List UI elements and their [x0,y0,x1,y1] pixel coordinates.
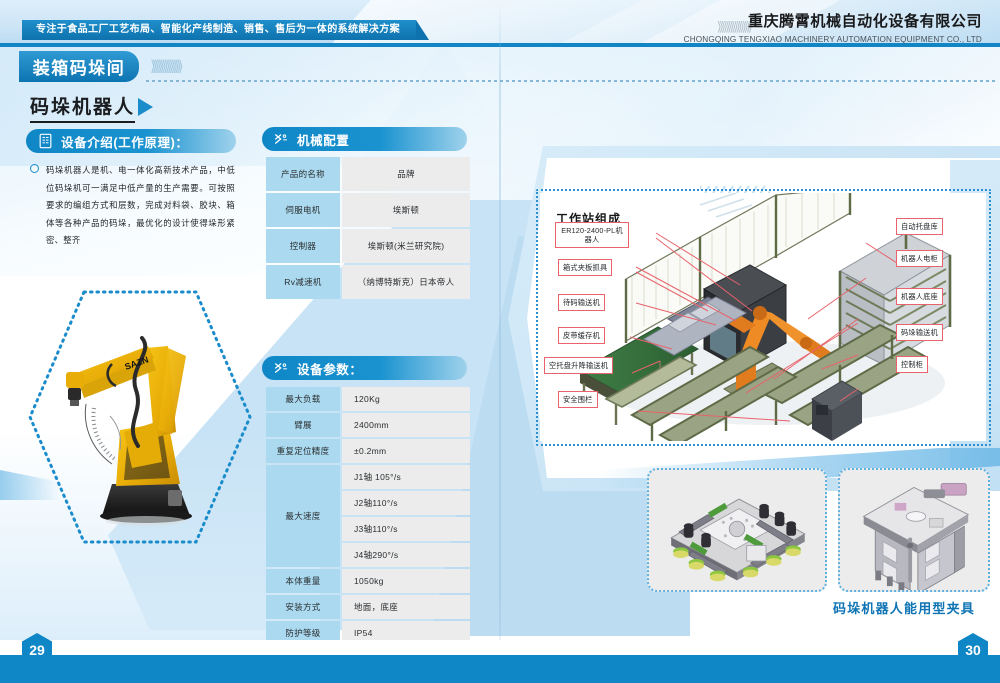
banner-chevrons: ⟩ ⟩ ⟩ ⟩ ⟩ ⟩ ⟩ ⟩ ⟩ ⟩ ⟩ ⟩ ⟩ ⟩ ⟩ ⟩ [150,57,180,75]
table-row: 伺服电机 埃斯顿 [266,193,470,227]
table-row: 重复定位精度 ±0.2mm [266,439,470,463]
param-value: 地面，底座 [342,595,470,619]
config-value: （纳博特斯克）日本帝人 [342,265,470,299]
config-key: Rv减速机 [266,265,340,299]
param-key: 最大速度 [266,465,340,567]
config-key: 控制器 [266,229,340,263]
intro-pill-label: 设备介绍(工作原理)： [61,132,188,151]
intro-paragraph: 码垛机器人是机、电一体化高新技术产品，中低位码垛机可一满足中低产量的生产需要。可… [46,162,235,250]
config-header-pill: 机械配置 [262,127,467,151]
param-value: J4轴290°/s [342,543,470,567]
param-key: 安装方式 [266,595,340,619]
palletizing-robot-photo: SAZN [50,312,230,527]
workstation-label-palletizing-conveyor: 码垛输送机 [896,324,943,341]
workstation-label-waiting-conveyor: 待码输送机 [558,294,605,311]
params-pill-label: 设备参数： [297,359,363,378]
workstation-label-robot-base: 机器人底座 [896,288,943,305]
section-banner: 装箱码垛间 [19,51,139,82]
company-identity: 重庆腾霄机械自动化设备有限公司 CHONGQING TENGXIAO MACHI… [684,12,982,44]
vacuum-suction-gripper [649,470,825,590]
company-name-en: CHONGQING TENGXIAO MACHINERY AUTOMATION … [684,35,982,44]
page-title: 码垛机器人 [30,92,135,123]
table-row: 最大速度 J1轴 105°/s [266,465,470,489]
box-clamp-gripper [840,470,988,590]
param-key: 重复定位精度 [266,439,340,463]
banner-dotted-line [146,80,998,82]
bullet-circle-icon [30,164,39,173]
tagline: 专注于食品工厂工艺布局、智能化产线制造、销售、售后为一体的系统解决方案 [22,19,416,39]
table-row: 产品的名称 品牌 [266,157,470,191]
gear-tool-icon [274,131,289,147]
page-spine [499,0,501,683]
param-value: 120Kg [342,387,470,411]
footer-band-left [0,655,500,683]
config-value: 埃斯顿 [342,193,470,227]
section-banner-label: 装箱码垛间 [33,54,126,79]
chevron-right-icon: ⟩ [178,57,184,75]
brochure-page: 专注于食品工厂工艺布局、智能化产线制造、销售、售后为一体的系统解决方案 ⟩ ⟩ … [0,0,1000,683]
footer-band-right [500,655,1000,683]
equipment-parameters-table: 最大负载 120Kg 臂展 2400mm 重复定位精度 ±0.2mm 最大速度 … [264,385,472,647]
workstation-label-robot-cabinet: 机器人电柜 [896,250,943,267]
play-arrow-icon [138,98,153,116]
param-value: J3轴110°/s [342,517,470,541]
param-value: 2400mm [342,413,470,437]
workstation-label-gripper: 箱式夹板抓具 [558,259,612,276]
document-icon [38,133,53,149]
param-value: ±0.2mm [342,439,470,463]
param-key: 本体重量 [266,569,340,593]
gear-tool-icon [274,360,289,376]
table-row: 控制器 埃斯顿(米兰研究院) [266,229,470,263]
table-row: 臂展 2400mm [266,413,470,437]
param-key: 臂展 [266,413,340,437]
workstation-label-pallet-lift: 空托盘升降输送机 [544,357,613,374]
intro-body: 码垛机器人是机、电一体化高新技术产品，中低位码垛机可一满足中低产量的生产需要。可… [30,162,235,250]
param-value: J1轴 105°/s [342,465,470,489]
param-value: 1050kg [342,569,470,593]
workstation-label-belt-buffer: 皮带缓存机 [558,327,605,344]
gripper-caption: 码垛机器人能用型夹具 [833,598,975,617]
company-name-cn: 重庆腾霄机械自动化设备有限公司 [684,12,982,31]
table-row: 安装方式 地面，底座 [266,595,470,619]
table-row: 本体重量 1050kg [266,569,470,593]
mechanical-config-table: 产品的名称 品牌 伺服电机 埃斯顿 控制器 埃斯顿(米兰研究院) Rv减速机 （… [264,155,472,301]
config-key: 产品的名称 [266,157,340,191]
intro-header-pill: 设备介绍(工作原理)： [26,129,236,153]
param-key: 最大负载 [266,387,340,411]
gripper-image-card-2 [838,468,990,592]
tagline-text: 专注于食品工厂工艺布局、智能化产线制造、销售、售后为一体的系统解决方案 [22,20,416,40]
config-value: 埃斯顿(米兰研究院) [342,229,470,263]
workstation-label-robot: ER120-2400-PL机器人 [555,222,629,248]
config-pill-label: 机械配置 [297,130,349,149]
config-key: 伺服电机 [266,193,340,227]
workstation-label-control-cabinet: 控制柜 [896,356,928,373]
table-row: Rv减速机 （纳博特斯克）日本帝人 [266,265,470,299]
config-value: 品牌 [342,157,470,191]
table-row: 最大负载 120Kg [266,387,470,411]
workstation-label-pallet-warehouse: 自动托盘库 [896,218,943,235]
param-value: J2轴110°/s [342,491,470,515]
workstation-label-safety-fence: 安全围栏 [558,391,598,408]
footer-white-strip [0,640,1000,656]
gripper-image-card-1 [647,468,827,592]
params-header-pill: 设备参数： [262,356,467,380]
